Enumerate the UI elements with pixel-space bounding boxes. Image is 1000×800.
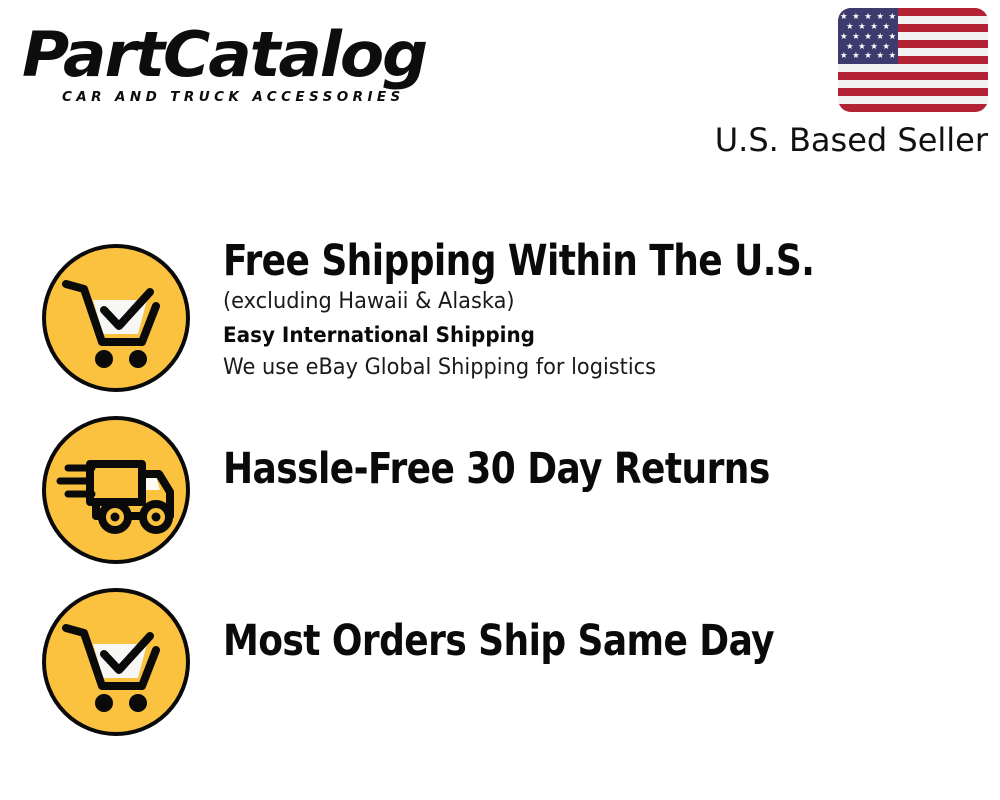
feature-text-block: Hassle-Free 30 Day Returns — [223, 444, 990, 494]
feature-sub-note: (excluding Hawaii & Alaska) — [223, 286, 952, 318]
page-header: PartCatalog CAR AND TRUCK ACCESSORIES ★★… — [0, 0, 1000, 170]
feature-row: Hassle-Free 30 Day Returns — [0, 402, 1000, 574]
feature-row: Most Orders Ship Same Day — [0, 574, 1000, 746]
feature-sub-heading: Easy International Shipping — [223, 318, 952, 352]
feature-title: Most Orders Ship Same Day — [223, 616, 936, 666]
delivery-truck-icon — [42, 416, 190, 564]
feature-sub-detail: We use eBay Global Shipping for logistic… — [223, 352, 952, 384]
brand-tagline: CAR AND TRUCK ACCESSORIES — [62, 89, 492, 105]
shopping-cart-check-icon — [42, 588, 190, 736]
feature-row: Free Shipping Within The U.S. (excluding… — [0, 230, 1000, 402]
feature-text-block: Most Orders Ship Same Day — [223, 616, 990, 666]
us-based-seller-label: U.S. Based Seller — [708, 121, 988, 159]
feature-list: Free Shipping Within The U.S. (excluding… — [0, 230, 1000, 746]
shopping-cart-check-icon — [42, 244, 190, 392]
brand-wordmark: PartCatalog — [22, 24, 511, 86]
us-flag-icon: ★★★★★ ★★★★ ★★★★★ ★★★★ ★★★★★ — [838, 8, 988, 112]
feature-title: Free Shipping Within The U.S. — [223, 236, 936, 286]
flag-stars: ★★★★★ ★★★★ ★★★★★ ★★★★ ★★★★★ — [838, 8, 898, 64]
feature-title: Hassle-Free 30 Day Returns — [223, 444, 936, 494]
feature-text-block: Free Shipping Within The U.S. (excluding… — [223, 236, 990, 384]
brand-logo[interactable]: PartCatalog CAR AND TRUCK ACCESSORIES — [22, 24, 492, 105]
us-based-seller-badge: ★★★★★ ★★★★ ★★★★★ ★★★★ ★★★★★ U.S. Based S… — [708, 8, 988, 159]
